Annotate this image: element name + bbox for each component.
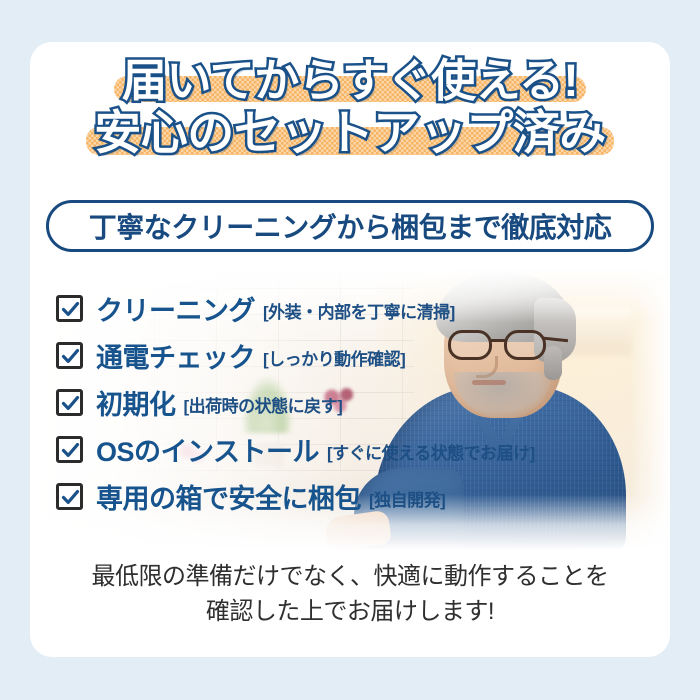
checklist-item: 初期化 [出荷時の状態に戻す] <box>56 379 646 426</box>
headline-text-1: 届いてからすぐ使える! <box>122 58 578 103</box>
headline-text-2: 安心のセットアップ済み <box>94 109 606 156</box>
footer-note: 最低限の準備だけでなく、快適に動作することを 確認した上でお届けします! <box>30 560 670 630</box>
content-card: 届いてからすぐ使える! 安心のセットアップ済み 丁寧なクリーニングから梱包まで徹… <box>30 42 670 657</box>
checklist-item-label: 通電チェック <box>96 336 255 375</box>
checklist-item-label: 初期化 <box>96 383 176 422</box>
checkbox-checked-icon <box>56 295 83 322</box>
checklist-item-note: [出荷時の状態に戻す] <box>184 392 343 417</box>
checklist: クリーニング [外装・内部を丁寧に清掃] 通電チェック [しっかり動作確認] 初… <box>56 285 646 520</box>
subtitle-pill: 丁寧なクリーニングから梱包まで徹底対応 <box>46 200 654 252</box>
checkbox-checked-icon <box>56 436 83 463</box>
checklist-item: OSのインストール [すぐに使える状態でお届け] <box>56 426 646 473</box>
checklist-item-label: クリーニング <box>96 289 255 328</box>
checklist-item-label: 専用の箱で安全に梱包 <box>96 477 361 516</box>
checklist-item-note: [すぐに使える状態でお届け] <box>327 439 535 464</box>
headline-line-1: 届いてからすぐ使える! <box>112 58 588 103</box>
checklist-item-note: [独自開発] <box>369 486 445 511</box>
checkbox-checked-icon <box>56 342 83 369</box>
checkbox-checked-icon <box>56 389 83 416</box>
headline: 届いてからすぐ使える! 安心のセットアップ済み <box>30 58 670 156</box>
promo-banner: 届いてからすぐ使える! 安心のセットアップ済み 丁寧なクリーニングから梱包まで徹… <box>0 0 700 700</box>
footer-note-line-1: 最低限の準備だけでなく、快適に動作することを <box>30 560 670 595</box>
checkbox-checked-icon <box>56 483 83 510</box>
footer-note-line-2: 確認した上でお届けします! <box>30 595 670 630</box>
checklist-item: 通電チェック [しっかり動作確認] <box>56 332 646 379</box>
checklist-item-note: [外装・内部を丁寧に清掃] <box>263 298 455 323</box>
checklist-item-label: OSのインストール <box>96 430 319 469</box>
headline-line-2: 安心のセットアップ済み <box>84 109 616 156</box>
checklist-item-note: [しっかり動作確認] <box>263 345 405 370</box>
checklist-item: 専用の箱で安全に梱包 [独自開発] <box>56 473 646 520</box>
checklist-item: クリーニング [外装・内部を丁寧に清掃] <box>56 285 646 332</box>
subtitle-text: 丁寧なクリーニングから梱包まで徹底対応 <box>89 206 612 246</box>
